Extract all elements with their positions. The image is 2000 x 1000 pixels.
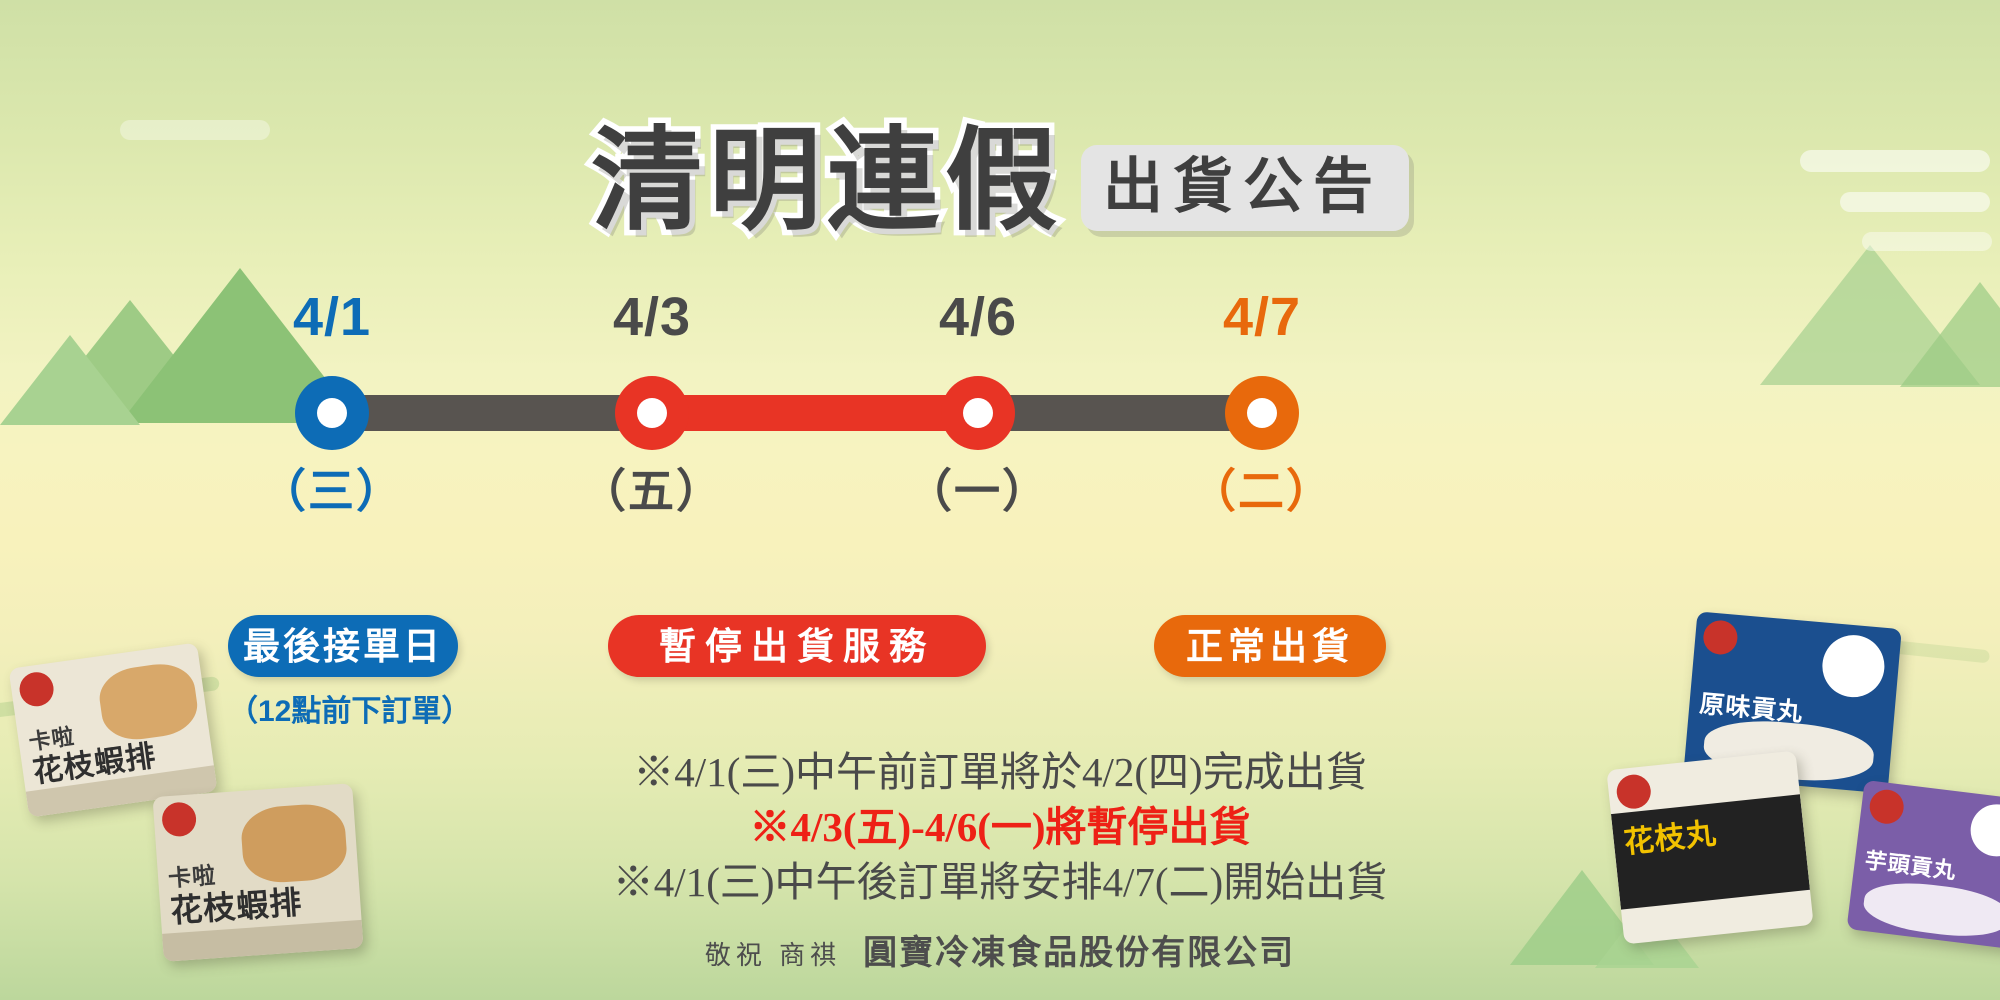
mountain-decoration bbox=[0, 335, 140, 425]
timeline-track bbox=[300, 395, 1260, 431]
pill-normal-shipping-label: 正常出貨 bbox=[1186, 628, 1354, 665]
subtitle-badge-label: 出貨公告 bbox=[1103, 157, 1387, 217]
pill-suspended-shipping-label: 暫停出貨服務 bbox=[659, 628, 935, 665]
timeline-node-core bbox=[963, 398, 993, 428]
page-title: 清明連假 bbox=[591, 125, 1063, 237]
shipping-announcement-banner: 清明連假 出貨公告 4/1 （三） 4/3 （五） 4/6 （一） 4/7 bbox=[0, 0, 2000, 1000]
product-pack-image: 芋頭貢丸 bbox=[1847, 780, 2000, 950]
subtitle-badge: 出貨公告 bbox=[1081, 145, 1409, 231]
timeline-weekday-4: （二） bbox=[1152, 468, 1372, 514]
title-row: 清明連假 出貨公告 bbox=[0, 125, 2000, 237]
timeline-date-3: 4/6 bbox=[868, 290, 1088, 344]
mountain-decoration bbox=[35, 300, 225, 420]
brand-logo-icon bbox=[17, 670, 55, 708]
timeline-node-4[interactable] bbox=[1225, 376, 1299, 450]
footer-company-name: 圓寶冷凍食品股份有限公司 bbox=[863, 925, 1295, 974]
brand-circle-icon bbox=[1820, 633, 1887, 700]
brand-logo-icon bbox=[161, 801, 197, 837]
timeline: 4/1 （三） 4/3 （五） 4/6 （一） 4/7 （二） bbox=[300, 290, 1260, 670]
brand-circle-icon bbox=[1968, 801, 2000, 859]
product-pack-image: 卡啦 花枝蝦排 bbox=[8, 643, 217, 818]
timeline-node-2[interactable] bbox=[615, 376, 689, 450]
pill-last-order-day-label: 最後接單日 bbox=[243, 628, 443, 665]
timeline-node-core bbox=[317, 398, 347, 428]
mountain-decoration bbox=[1760, 245, 1980, 385]
timeline-segment-1 bbox=[332, 395, 640, 431]
brand-logo-icon bbox=[1702, 619, 1739, 656]
pill-last-order-day[interactable]: 最後接單日 bbox=[228, 615, 458, 677]
brand-logo-icon bbox=[1868, 788, 1906, 826]
timeline-weekday-2: （五） bbox=[542, 468, 762, 514]
footer-greeting: 敬祝 商祺 bbox=[705, 935, 841, 972]
pill-normal-shipping[interactable]: 正常出貨 bbox=[1154, 615, 1386, 677]
brand-logo-icon bbox=[1615, 773, 1652, 810]
timeline-date-1: 4/1 bbox=[222, 290, 442, 344]
timeline-node-core bbox=[1247, 398, 1277, 428]
timeline-node-3[interactable] bbox=[941, 376, 1015, 450]
product-pack-image: 花枝丸 bbox=[1606, 751, 1813, 945]
timeline-weekday-3: （一） bbox=[868, 468, 1088, 514]
timeline-date-4: 4/7 bbox=[1152, 290, 1372, 344]
last-order-note: （12點前下訂單） bbox=[228, 686, 458, 730]
product-pack-image: 卡啦 花枝蝦排 bbox=[152, 783, 363, 962]
timeline-node-core bbox=[637, 398, 667, 428]
mountain-decoration bbox=[1900, 282, 2000, 387]
timeline-node-1[interactable] bbox=[295, 376, 369, 450]
pill-suspended-shipping[interactable]: 暫停出貨服務 bbox=[608, 615, 986, 677]
timeline-date-2: 4/3 bbox=[542, 290, 762, 344]
timeline-weekday-1: （三） bbox=[222, 468, 442, 514]
